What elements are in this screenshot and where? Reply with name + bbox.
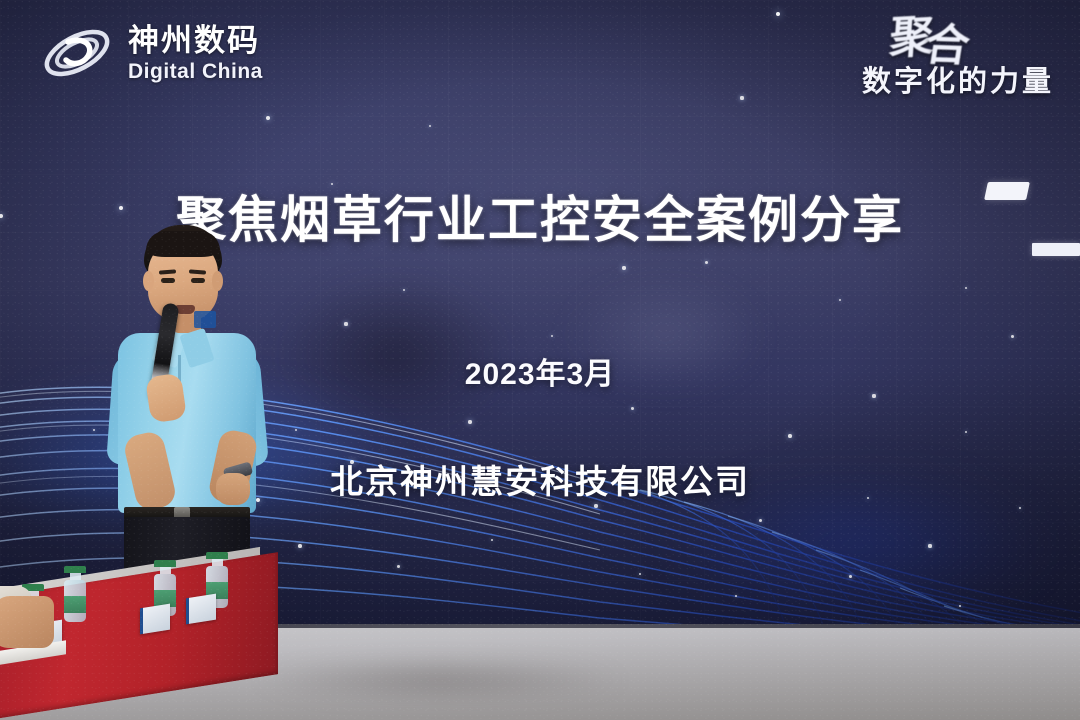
- screen-edge-bar: [1032, 243, 1080, 256]
- speaker-ear-right: [212, 271, 223, 291]
- event-calligraphy: 聚合: [888, 12, 1056, 58]
- company-emblem-icon: [194, 311, 216, 328]
- seated-person-arm: [0, 596, 54, 648]
- calligraphy-char-2: 合: [922, 27, 970, 66]
- bottle-neck: [160, 567, 171, 574]
- screen-edge-bar-upper: [984, 182, 1030, 200]
- bottle-neck: [212, 559, 223, 566]
- speaker-hand-holding-microphone: [145, 373, 187, 424]
- bottle-cap: [64, 566, 86, 573]
- bottle-label: [64, 596, 86, 613]
- speaker-eye-right: [191, 278, 205, 283]
- bottle-neck: [70, 573, 81, 580]
- name-card: [186, 594, 216, 625]
- water-bottle: [64, 566, 86, 622]
- bottle-cap: [206, 552, 228, 559]
- name-card: [140, 604, 170, 635]
- speaker-eye-left: [161, 278, 175, 283]
- event-logo: 聚合 数字化的力量: [862, 16, 1054, 100]
- conference-stage-photo: 神州数码 Digital China 聚合 数字化的力量 聚焦烟草行业工控安全案…: [0, 0, 1080, 720]
- speaker-hair-fringe: [146, 231, 220, 257]
- bottle-body: [64, 580, 86, 622]
- brand-english-name: Digital China: [128, 61, 263, 82]
- digital-china-logo: 神州数码 Digital China: [40, 22, 263, 84]
- brand-chinese-name: 神州数码: [128, 25, 263, 56]
- bottle-cap: [154, 560, 176, 567]
- digital-china-wordmark: 神州数码 Digital China: [128, 25, 263, 82]
- digital-china-swirl-icon: [40, 22, 114, 84]
- speaker-hand-right: [216, 473, 250, 505]
- speaker-ear-left: [143, 271, 154, 291]
